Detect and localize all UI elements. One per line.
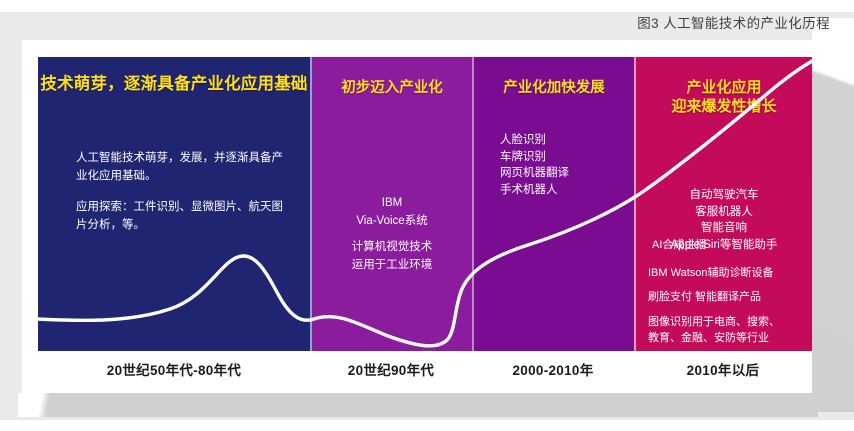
figure-card: 技术萌芽，逐渐具备产业化应用基础 人工智能技术萌芽，发展，并逐渐具备产业化应用基… bbox=[22, 40, 812, 393]
panel-initial-industrialization-body-1: IBM Via-Voice系统 bbox=[312, 195, 472, 231]
era-label-4: 2010年以后 bbox=[634, 353, 812, 385]
figure-title: 图3 人工智能技术的产业化历程 bbox=[430, 12, 830, 32]
era-label-2: 20世纪90年代 bbox=[310, 353, 472, 385]
panel-sprouting[interactable]: 技术萌芽，逐渐具备产业化应用基础 人工智能技术萌芽，发展，并逐渐具备产业化应用基… bbox=[38, 57, 310, 351]
panel-initial-industrialization[interactable]: 初步迈入产业化 IBM Via-Voice系统 计算机视觉技术 运用于工业环境 bbox=[310, 57, 472, 351]
era-label-1: 20世纪50年代-80年代 bbox=[38, 353, 310, 385]
panel-accelerated-development-title: 产业化加快发展 bbox=[474, 79, 634, 97]
era-label-3: 2000-2010年 bbox=[472, 353, 634, 385]
panel-accelerated-development[interactable]: 产业化加快发展 人脸识别 车牌识别 网页机器翻译 手术机器人 bbox=[472, 57, 634, 351]
panel-initial-industrialization-title: 初步迈入产业化 bbox=[312, 79, 472, 97]
panel-explosive-growth-body-4: 刷脸支付 智能翻译产品 bbox=[648, 289, 761, 306]
panel-explosive-growth-body-2: AI合成主播 bbox=[652, 237, 706, 254]
card-shadow-right bbox=[812, 18, 854, 412]
timeline-band: 技术萌芽，逐渐具备产业化应用基础 人工智能技术萌芽，发展，并逐渐具备产业化应用基… bbox=[38, 57, 812, 351]
card-shadow-bottom bbox=[18, 393, 818, 417]
panel-sprouting-body-2: 应用探索：工件识别、显微图片、航天图片分析，等。 bbox=[76, 199, 291, 235]
panel-accelerated-development-body-1: 人脸识别 车牌识别 网页机器翻译 手术机器人 bbox=[500, 132, 569, 199]
panel-explosive-growth-body-3: IBM Watson辅助诊断设备 bbox=[648, 265, 774, 282]
panel-explosive-growth-title: 产业化应用 迎来爆发性增长 bbox=[636, 79, 812, 117]
panel-sprouting-body-1: 人工智能技术萌芽，发展，并逐渐具备产业化应用基础。 bbox=[76, 150, 286, 186]
panel-explosive-growth-body-5: 图像识别用于电商、搜索、 教育、金融、安防等行业 bbox=[648, 315, 780, 347]
panel-initial-industrialization-body-2: 计算机视觉技术 运用于工业环境 bbox=[312, 239, 472, 275]
figure-canvas: 图3 人工智能技术的产业化历程 技术萌芽，逐渐具备产业化应用基础 人工智能技术萌… bbox=[0, 0, 854, 431]
panel-sprouting-title: 技术萌芽，逐渐具备产业化应用基础 bbox=[38, 74, 310, 95]
panel-explosive-growth[interactable]: 产业化应用 迎来爆发性增长 自动驾驶汽车 客服机器人 智能音响 Apple Si… bbox=[634, 57, 812, 351]
era-labels: 20世纪50年代-80年代 20世纪90年代 2000-2010年 2010年以… bbox=[38, 353, 812, 385]
